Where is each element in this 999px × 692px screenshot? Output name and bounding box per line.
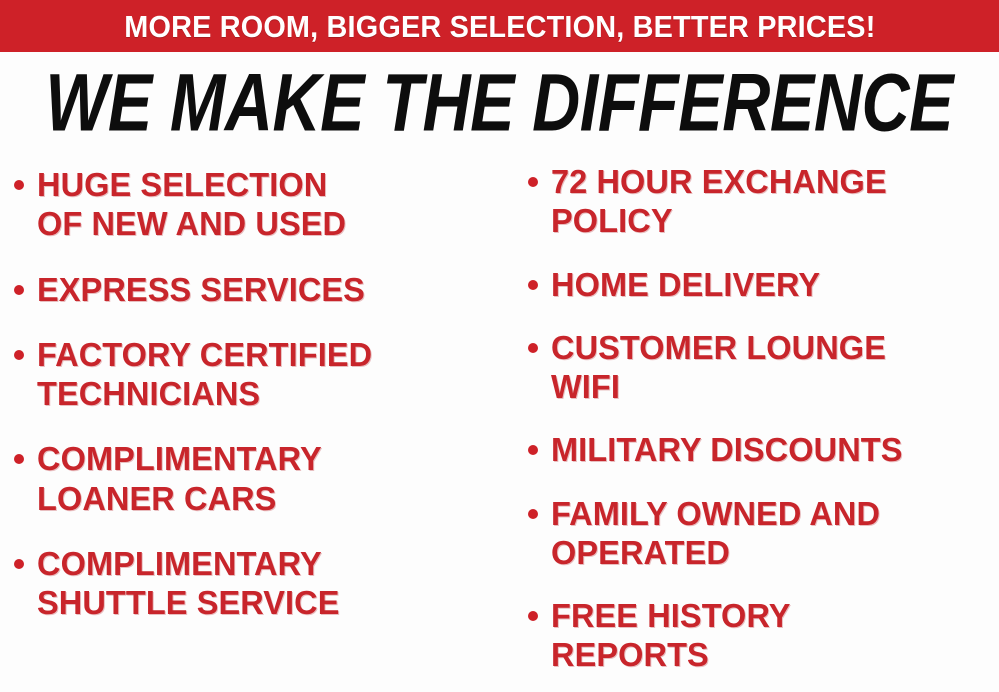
headline-container: WE MAKE THE DIFFERENCE xyxy=(0,60,999,146)
bullet-dot-icon xyxy=(14,454,24,464)
benefits-column-right: 72 HOUR EXCHANGE POLICY HOME DELIVERY CU… xyxy=(510,152,999,692)
list-item-label: FAMILY OWNED AND OPERATED xyxy=(551,494,880,573)
list-item: COMPLIMENTARY LOANER CARS xyxy=(14,439,510,518)
list-item: MILITARY DISCOUNTS xyxy=(528,430,999,469)
banner-headline-text: MORE ROOM, BIGGER SELECTION, BETTER PRIC… xyxy=(124,11,875,42)
bullet-dot-icon xyxy=(528,280,538,290)
list-item-label: FREE HISTORY REPORTS xyxy=(551,596,791,675)
page-title: WE MAKE THE DIFFERENCE xyxy=(46,62,954,143)
bullet-dot-icon xyxy=(528,177,538,187)
bullet-dot-icon xyxy=(14,350,24,360)
bullet-dot-icon xyxy=(14,559,24,569)
benefits-columns: HUGE SELECTION OF NEW AND USED EXPRESS S… xyxy=(0,152,999,692)
list-item: FREE HISTORY REPORTS xyxy=(528,596,999,675)
bullet-dot-icon xyxy=(528,611,538,621)
list-item: COMPLIMENTARY SHUTTLE SERVICE xyxy=(14,544,510,623)
bullet-dot-icon xyxy=(528,509,538,519)
list-item: FACTORY CERTIFIED TECHNICIANS xyxy=(14,335,510,414)
list-item: EXPRESS SERVICES xyxy=(14,270,510,309)
list-item: 72 HOUR EXCHANGE POLICY xyxy=(528,162,999,241)
top-banner: MORE ROOM, BIGGER SELECTION, BETTER PRIC… xyxy=(0,0,999,52)
list-item-label: FACTORY CERTIFIED TECHNICIANS xyxy=(37,335,372,414)
bullet-dot-icon xyxy=(528,343,538,353)
list-item-label: EXPRESS SERVICES xyxy=(37,270,365,309)
list-item: FAMILY OWNED AND OPERATED xyxy=(528,494,999,573)
list-item-label: 72 HOUR EXCHANGE POLICY xyxy=(551,162,887,241)
list-item-label: MILITARY DISCOUNTS xyxy=(551,430,903,469)
list-item-label: CUSTOMER LOUNGE WIFI xyxy=(551,328,886,407)
promo-poster: MORE ROOM, BIGGER SELECTION, BETTER PRIC… xyxy=(0,0,999,692)
benefits-column-left: HUGE SELECTION OF NEW AND USED EXPRESS S… xyxy=(0,152,510,648)
bullet-dot-icon xyxy=(528,445,538,455)
list-item: HOME DELIVERY xyxy=(528,265,999,304)
list-item-label: COMPLIMENTARY SHUTTLE SERVICE xyxy=(37,544,340,623)
list-item-label: HUGE SELECTION OF NEW AND USED xyxy=(37,165,346,244)
list-item-label: COMPLIMENTARY LOANER CARS xyxy=(37,439,322,518)
bullet-dot-icon xyxy=(14,285,24,295)
list-item-label: HOME DELIVERY xyxy=(551,265,820,304)
list-item: CUSTOMER LOUNGE WIFI xyxy=(528,328,999,407)
bullet-dot-icon xyxy=(14,180,24,190)
list-item: HUGE SELECTION OF NEW AND USED xyxy=(14,165,510,244)
